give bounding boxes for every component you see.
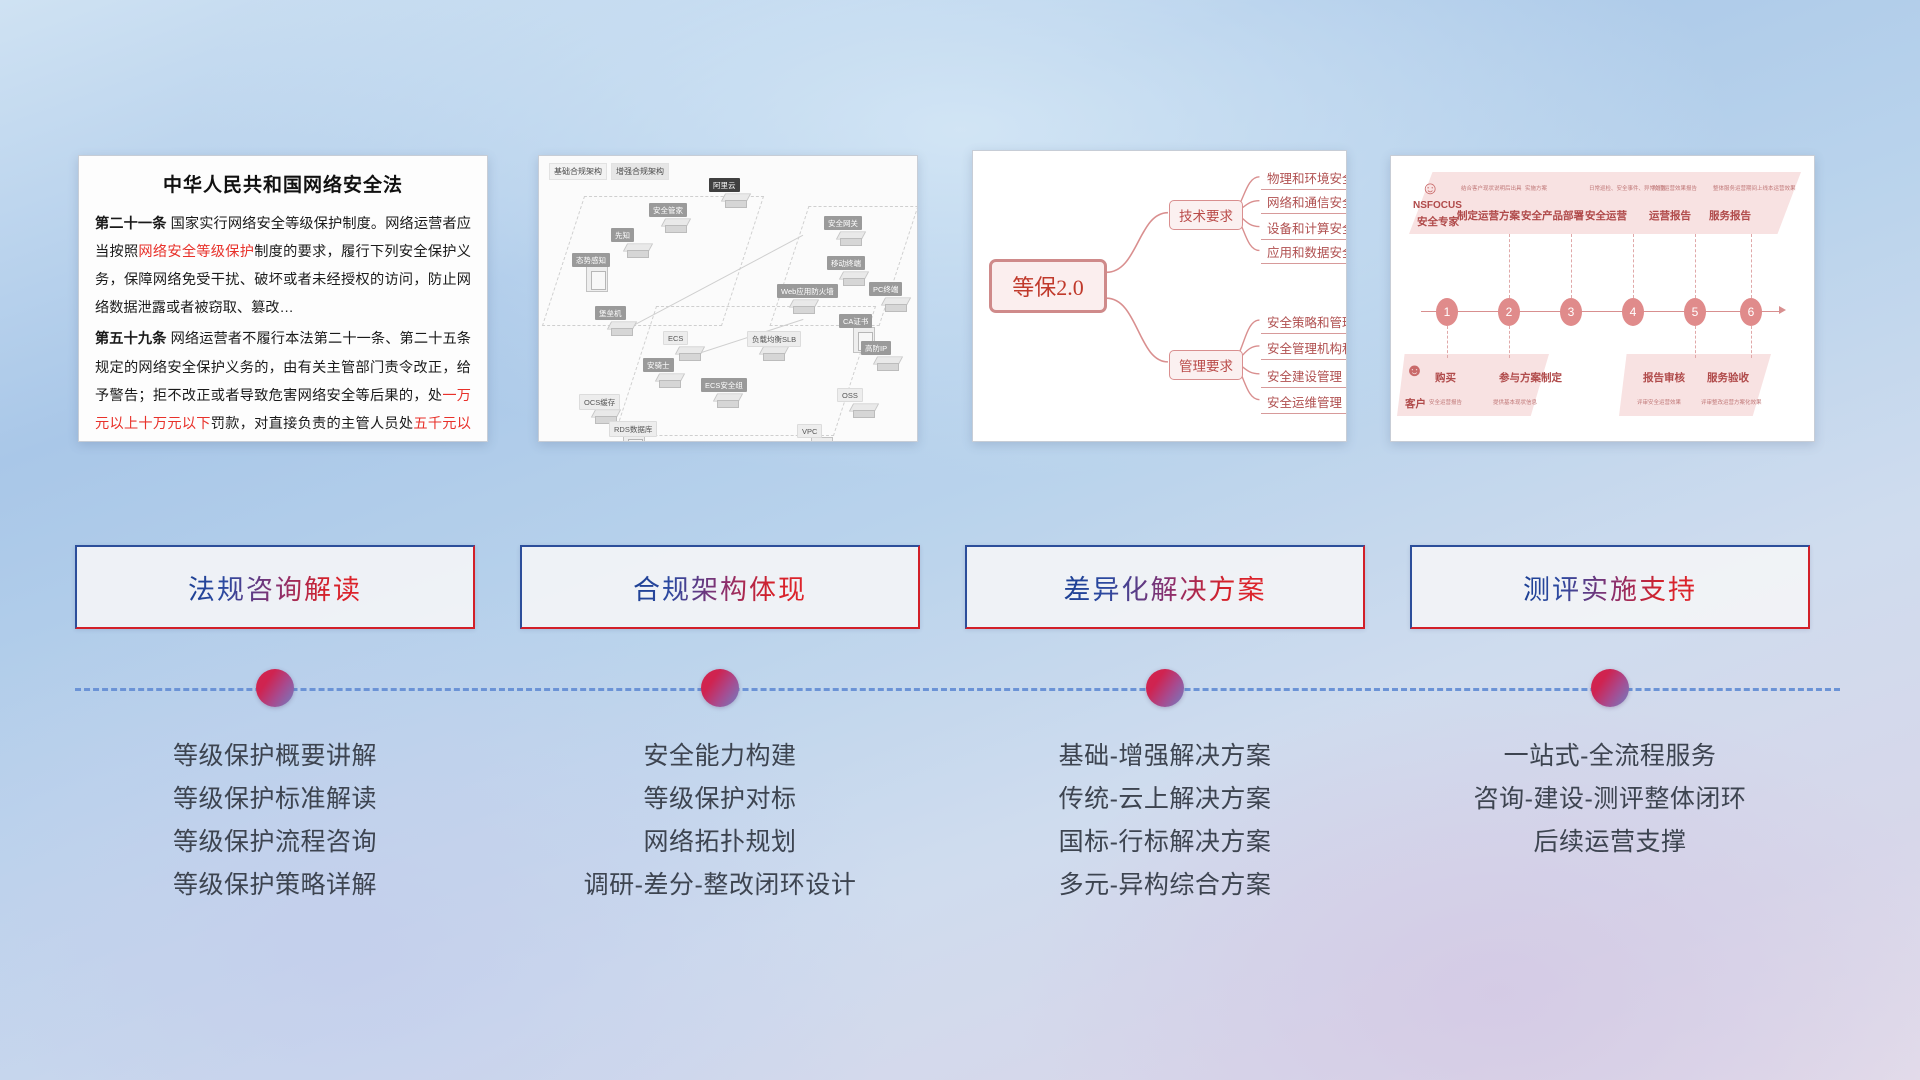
law-highlight-text: 网络安全等级保护	[138, 244, 254, 260]
timeline-step-dot[interactable]: 1	[1436, 298, 1458, 326]
customer-avatar-icon: ☻	[1405, 360, 1424, 381]
axis-milestone-dot[interactable]	[1146, 669, 1184, 707]
architecture-node-label: CA证书	[839, 314, 872, 328]
architecture-node-label: 移动终端	[827, 256, 865, 270]
law-card-title: 中华人民共和国网络安全法	[95, 170, 471, 197]
law-paragraph: 第二十一条 国家实行网络安全等级保护制度。网络运营者应当按照网络安全等级保护制度…	[95, 210, 471, 322]
mindmap-branch-node: 管理要求	[1169, 350, 1243, 380]
list-item: 一站式-全流程服务	[1380, 735, 1840, 778]
architecture-node-label: 安骑士	[643, 358, 674, 372]
architecture-node-label: Web应用防火墙	[777, 284, 838, 298]
timeline-band-bottom-right	[1619, 354, 1771, 416]
architecture-node-label: 负载均衡SLB	[747, 331, 801, 347]
timeline-axis-row	[0, 660, 1920, 720]
axis-milestone-dot[interactable]	[1591, 669, 1629, 707]
mindmap-leaf-node: 物理和环境安全	[1261, 167, 1347, 190]
mindmap-leaf-node: 安全策略和管理制度	[1261, 311, 1347, 334]
architecture-tab-group[interactable]: 基础合规架构增强合规架构	[549, 163, 669, 180]
architecture-node-shape	[841, 269, 867, 289]
architecture-node-label: 先知	[611, 228, 634, 242]
timeline-brand: NSFOCUS	[1413, 200, 1462, 211]
architecture-node-label: 堡垒机	[595, 306, 626, 320]
timeline-connector	[1509, 234, 1510, 298]
architecture-node-label: 态势感知	[572, 253, 610, 267]
detail-list: 基础-增强解决方案传统-云上解决方案国标-行标解决方案多元-异构综合方案	[935, 735, 1395, 907]
list-item: 传统-云上解决方案	[935, 778, 1395, 821]
service-timeline: ☺ NSFOCUS 安全专家 ☻ 客户 123456结合客户现状说明后出具制定运…	[1391, 156, 1814, 441]
timeline-connector	[1751, 234, 1752, 298]
mindmap: 等保2.0 技术要求物理和环境安全网络和通信安全设备和计算安全应用和数据安全管理…	[973, 151, 1346, 441]
list-item: 咨询-建设-测评整体闭环	[1380, 778, 1840, 821]
timeline-band-top	[1409, 172, 1801, 234]
timeline-top-label: 安全产品部署	[1521, 208, 1584, 223]
architecture-node-shape	[883, 295, 909, 315]
card-cybersecurity-law: 中华人民共和国网络安全法 第二十一条 国家实行网络安全等级保护制度。网络运营者应…	[78, 155, 488, 442]
architecture-diagram: 基础合规架构增强合规架构 阿里云安全管家先知态势感知堡垒机ECS安骑士OCS缓存…	[539, 156, 917, 441]
heading-box-3[interactable]: 差异化解决方案	[965, 545, 1365, 629]
timeline-bottom-label: 服务验收	[1707, 370, 1749, 385]
architecture-node-shape	[657, 371, 683, 391]
architecture-node-label: VPC	[797, 424, 822, 438]
timeline-bottom-sublabel: 评审整改运营方案化效果	[1701, 398, 1762, 406]
timeline-top-sublabel: 整体服务运营期间上线本运营效果	[1713, 184, 1796, 192]
list-item: 后续运营支撑	[1380, 821, 1840, 864]
timeline-bottom-sublabel: 安全运营报告	[1429, 398, 1462, 406]
heading-label: 差异化解决方案	[1064, 568, 1267, 607]
law-article-number: 第五十九条	[95, 331, 167, 347]
axis-milestone-dot[interactable]	[256, 669, 294, 707]
timeline-top-label: 运营报告	[1649, 208, 1691, 223]
mindmap-leaf-node: 安全建设管理	[1261, 365, 1347, 388]
law-paragraph: 第五十九条 网络运营者不履行本法第二十一条、第二十五条规定的网络安全保护义务的，…	[95, 325, 471, 442]
architecture-node-label: 高防IP	[861, 341, 891, 355]
list-item: 安全能力构建	[490, 735, 950, 778]
architecture-tab[interactable]: 增强合规架构	[611, 163, 669, 180]
detail-list: 一站式-全流程服务咨询-建设-测评整体闭环后续运营支撑	[1380, 735, 1840, 864]
timeline-connector	[1695, 234, 1696, 298]
list-item: 等级保护标准解读	[45, 778, 505, 821]
axis-milestone-dot[interactable]	[701, 669, 739, 707]
timeline-axis	[1421, 311, 1781, 312]
mindmap-leaf-node: 安全运维管理	[1261, 391, 1347, 414]
timeline-top-label: 制定运营方案	[1457, 208, 1520, 223]
list-item: 等级保护策略详解	[45, 864, 505, 907]
architecture-node-shape	[715, 391, 741, 411]
mindmap-root-node: 等保2.0	[989, 259, 1107, 313]
architecture-node-shape	[851, 401, 877, 421]
list-item: 等级保护流程咨询	[45, 821, 505, 864]
mindmap-leaf-node: 网络和通信安全	[1261, 191, 1347, 214]
architecture-node-label: PC终端	[869, 282, 902, 296]
timeline-customer-role: 客户	[1405, 396, 1426, 411]
timeline-brand-role: 安全专家	[1417, 214, 1459, 229]
mindmap-leaf-node: 应用和数据安全	[1261, 241, 1347, 264]
timeline-connector	[1751, 326, 1752, 358]
architecture-node-shape	[791, 297, 817, 317]
timeline-step-dot[interactable]: 2	[1498, 298, 1520, 326]
timeline-bottom-label: 购买	[1435, 370, 1456, 385]
list-item: 调研-差分-整改闭环设计	[490, 864, 950, 907]
architecture-node-shape	[609, 319, 635, 339]
list-item: 网络拓扑规划	[490, 821, 950, 864]
law-card-body: 第二十一条 国家实行网络安全等级保护制度。网络运营者应当按照网络安全等级保护制度…	[95, 210, 471, 442]
list-item: 国标-行标解决方案	[935, 821, 1395, 864]
heading-label: 合规架构体现	[633, 568, 807, 607]
heading-row: 法规咨询解读合规架构体现差异化解决方案测评实施支持	[0, 545, 1920, 645]
timeline-connector	[1509, 326, 1510, 358]
timeline-bottom-label: 报告审核	[1643, 370, 1685, 385]
timeline-connector	[1447, 326, 1448, 358]
law-text: 罚款，对直接负责的主管人员处	[211, 416, 414, 432]
top-card-row: 中华人民共和国网络安全法 第二十一条 国家实行网络安全等级保护制度。网络运营者应…	[0, 0, 1920, 450]
mindmap-branch-node: 技术要求	[1169, 200, 1243, 230]
axis-dashed-line	[75, 688, 1840, 691]
heading-box-2[interactable]: 合规架构体现	[520, 545, 920, 629]
timeline-top-sublabel: 实施方案	[1525, 184, 1547, 192]
mindmap-leaf-node: 设备和计算安全	[1261, 217, 1347, 240]
timeline-bottom-label: 参与方案制定	[1499, 370, 1562, 385]
list-item: 等级保护概要讲解	[45, 735, 505, 778]
timeline-step-dot[interactable]: 5	[1684, 298, 1706, 326]
timeline-arrow-icon	[1779, 306, 1786, 314]
timeline-top-sublabel: 阶段运营效果报告	[1653, 184, 1697, 192]
timeline-connector	[1633, 234, 1634, 298]
architecture-node-shape	[838, 229, 864, 249]
architecture-node-shape	[586, 266, 608, 292]
detail-list: 安全能力构建等级保护对标网络拓扑规划调研-差分-整改闭环设计	[490, 735, 950, 907]
architecture-node-label: ECS	[663, 331, 688, 345]
timeline-connector	[1695, 326, 1696, 358]
timeline-bottom-sublabel: 提供基本现状信息	[1493, 398, 1537, 406]
architecture-node-shape	[761, 344, 787, 364]
heading-label: 法规咨询解读	[188, 568, 362, 607]
architecture-node-label: OCS缓存	[579, 394, 620, 410]
heading-label: 测评实施支持	[1523, 568, 1697, 607]
card-service-timeline: ☺ NSFOCUS 安全专家 ☻ 客户 123456结合客户现状说明后出具制定运…	[1390, 155, 1815, 442]
architecture-node-shape	[875, 354, 901, 374]
timeline-step-dot[interactable]: 6	[1740, 298, 1762, 326]
heading-box-1[interactable]: 法规咨询解读	[75, 545, 475, 629]
architecture-tab[interactable]: 基础合规架构	[549, 163, 607, 180]
list-item: 等级保护对标	[490, 778, 950, 821]
timeline-bottom-sublabel: 评审安全运营效果	[1637, 398, 1681, 406]
card-mindmap-dengbao: 等保2.0 技术要求物理和环境安全网络和通信安全设备和计算安全应用和数据安全管理…	[972, 150, 1347, 442]
timeline-top-label: 安全运营	[1585, 208, 1627, 223]
architecture-node-label: 阿里云	[709, 178, 740, 192]
timeline-step-dot[interactable]: 3	[1560, 298, 1582, 326]
heading-box-4[interactable]: 测评实施支持	[1410, 545, 1810, 629]
law-card-inner: 中华人民共和国网络安全法 第二十一条 国家实行网络安全等级保护制度。网络运营者应…	[79, 156, 487, 442]
detail-list: 等级保护概要讲解等级保护标准解读等级保护流程咨询等级保护策略详解	[45, 735, 505, 907]
list-item: 基础-增强解决方案	[935, 735, 1395, 778]
architecture-node-label: 安全管家	[649, 203, 687, 217]
architecture-node-shape	[663, 216, 689, 236]
card-cloud-architecture: 基础合规架构增强合规架构 阿里云安全管家先知态势感知堡垒机ECS安骑士OCS缓存…	[538, 155, 918, 442]
timeline-connector	[1571, 234, 1572, 298]
law-article-number: 第二十一条	[95, 216, 167, 232]
expert-avatar-icon: ☺	[1421, 178, 1439, 199]
architecture-node-label: RDS数据库	[609, 421, 657, 437]
architecture-node-shape	[723, 191, 749, 211]
timeline-top-sublabel: 结合客户现状说明后出具	[1461, 184, 1522, 192]
architecture-node-label: 安全网关	[824, 216, 862, 230]
architecture-node-shape	[677, 344, 703, 364]
timeline-step-dot[interactable]: 4	[1622, 298, 1644, 326]
slide-canvas: 中华人民共和国网络安全法 第二十一条 国家实行网络安全等级保护制度。网络运营者应…	[0, 0, 1920, 1080]
architecture-node-label: OSS	[837, 388, 863, 402]
timeline-top-label: 服务报告	[1709, 208, 1751, 223]
architecture-node-label: ECS安全组	[701, 378, 747, 392]
architecture-node-shape	[625, 241, 651, 261]
list-item: 多元-异构综合方案	[935, 864, 1395, 907]
mindmap-leaf-node: 安全管理机构和人员	[1261, 337, 1347, 360]
detail-list-row: 等级保护概要讲解等级保护标准解读等级保护流程咨询等级保护策略详解安全能力构建等级…	[0, 735, 1920, 995]
